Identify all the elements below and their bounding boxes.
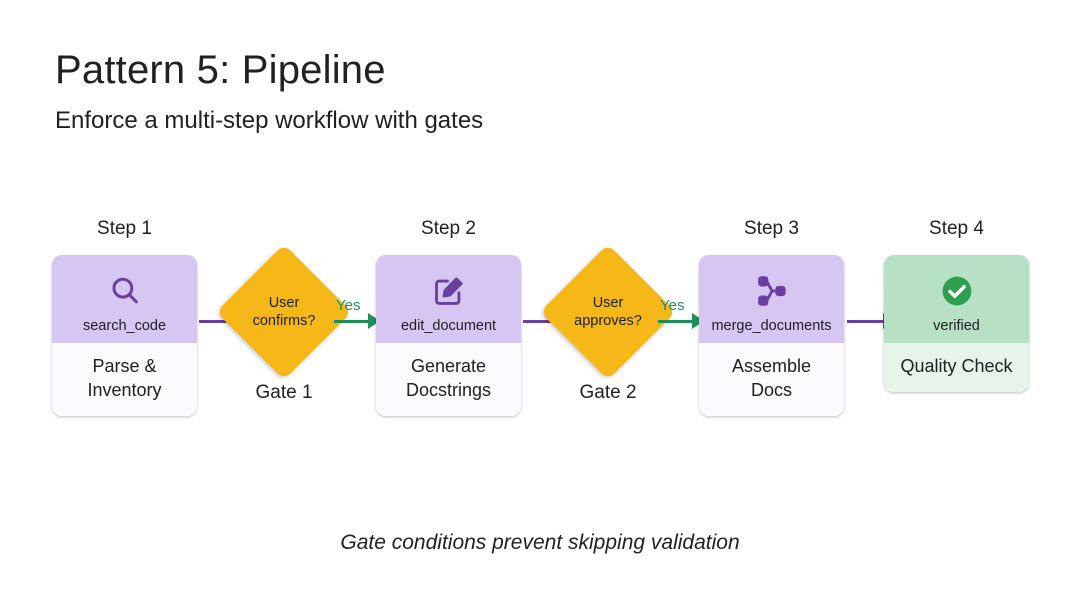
gate-node-1[interactable]: User confirms? Gate 1 [236, 264, 332, 404]
step-node-3[interactable]: Step 3 merge_documents Assemble Docs [699, 216, 844, 416]
step-card-header-2: edit_document [376, 255, 521, 343]
step-tool-name-1: search_code [52, 318, 197, 334]
step-tool-name-3: merge_documents [699, 318, 844, 334]
step-card-body-1: Parse & Inventory [52, 343, 197, 416]
step-desc-line1-3: Assemble [705, 354, 838, 378]
arrow-gate2-to-step3 [658, 311, 704, 331]
search-icon [52, 271, 197, 311]
gate-caption-2: Gate 2 [560, 382, 656, 404]
step-card-body-2: Generate Docstrings [376, 343, 521, 416]
step-card-1[interactable]: search_code Parse & Inventory [52, 255, 197, 416]
gate-question-line2-1: confirms? [253, 312, 316, 330]
step-card-header-3: merge_documents [699, 255, 844, 343]
gate-question-line1-1: User [269, 294, 300, 312]
step-node-1[interactable]: Step 1 search_code Parse & Inventory [52, 216, 197, 416]
gate-question-line1-2: User [593, 294, 624, 312]
check-circle-icon [884, 271, 1029, 311]
step-card-2[interactable]: edit_document Generate Docstrings [376, 255, 521, 416]
pipeline-diagram: Step 1 search_code Parse & Inventory [0, 0, 1080, 603]
gate-diamond-2[interactable]: User approves? [540, 244, 676, 380]
step-tool-name-2: edit_document [376, 318, 521, 334]
step-card-4[interactable]: verified Quality Check [884, 255, 1029, 392]
step-caption-2: Step 2 [376, 216, 521, 242]
arrow-label-gate2-yes: Yes [660, 297, 684, 314]
step-caption-1: Step 1 [52, 216, 197, 242]
arrow-gate1-to-step2 [334, 311, 380, 331]
step-desc-line2-3: Docs [705, 378, 838, 402]
step-caption-4: Step 4 [884, 216, 1029, 242]
edit-document-icon [376, 271, 521, 311]
step-card-header-1: search_code [52, 255, 197, 343]
step-node-2[interactable]: Step 2 edit_document Generate Docstrings [376, 216, 521, 416]
step-card-body-3: Assemble Docs [699, 343, 844, 416]
footer-caption: Gate conditions prevent skipping validat… [0, 531, 1080, 555]
step-card-body-4: Quality Check [884, 343, 1029, 392]
step-desc-line2-1: Inventory [58, 378, 191, 402]
arrow-label-gate1-yes: Yes [336, 297, 360, 314]
step-card-header-4: verified [884, 255, 1029, 343]
gate-node-2[interactable]: User approves? Gate 2 [560, 264, 656, 404]
step-caption-3: Step 3 [699, 216, 844, 242]
gate-caption-1: Gate 1 [236, 382, 332, 404]
merge-branch-icon [699, 271, 844, 311]
gate-diamond-1[interactable]: User confirms? [216, 244, 352, 380]
step-desc-line1-4: Quality Check [890, 354, 1023, 378]
step-node-4[interactable]: Step 4 verified Quality Check [884, 216, 1029, 392]
step-desc-line1-2: Generate [382, 354, 515, 378]
gate-question-line2-2: approves? [574, 312, 642, 330]
gate-question-1: User confirms? [236, 264, 332, 360]
gate-question-2: User approves? [560, 264, 656, 360]
step-desc-line2-2: Docstrings [382, 378, 515, 402]
step-tool-name-4: verified [884, 318, 1029, 334]
step-card-3[interactable]: merge_documents Assemble Docs [699, 255, 844, 416]
step-desc-line1-1: Parse & [58, 354, 191, 378]
